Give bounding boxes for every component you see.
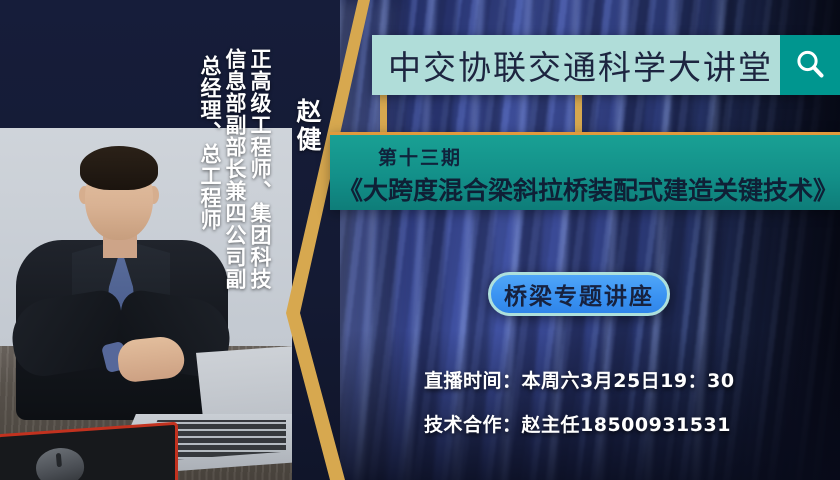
category-badge-label: 桥梁专题讲座 bbox=[504, 277, 654, 311]
search-glyph bbox=[793, 48, 827, 82]
lecture-topic: 《大跨度混合梁斜拉桥装配式建造关键技术》 bbox=[338, 171, 838, 207]
subtitle-band: 第十三期 《大跨度混合梁斜拉桥装配式建造关键技术》 bbox=[330, 132, 840, 210]
gold-connector-left bbox=[380, 95, 387, 137]
contact-text: 技术合作：赵主任18500931531 bbox=[424, 410, 731, 437]
page-title: 中交协联交通科学大讲堂 bbox=[372, 41, 812, 89]
episode-number: 第十三期 bbox=[378, 143, 462, 170]
broadcast-time-text: 直播时间：本周六3月25日19：30 bbox=[424, 366, 735, 393]
header-title-bar: 中交协联交通科学大讲堂 bbox=[372, 35, 812, 95]
promo-poster: 总经理、总工程师 信息部副部长兼四公司副 正高级工程师、集团科技 赵健 中交协联… bbox=[0, 0, 840, 480]
gold-connector-right bbox=[575, 95, 582, 137]
search-icon[interactable] bbox=[780, 35, 840, 95]
category-badge[interactable]: 桥梁专题讲座 bbox=[488, 272, 670, 316]
gold-chevron-line bbox=[286, 0, 370, 480]
